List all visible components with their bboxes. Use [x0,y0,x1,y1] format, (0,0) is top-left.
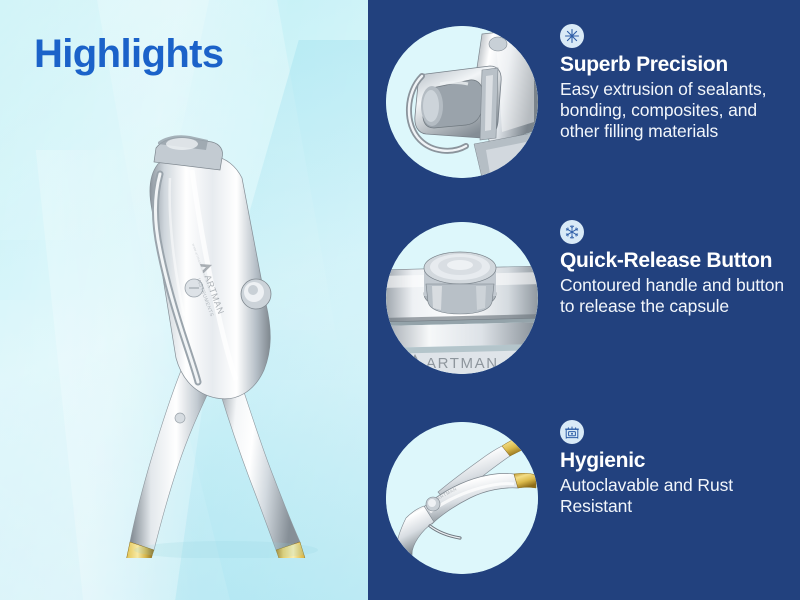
left-hero-panel: Highlights [0,0,368,600]
snowflake-icon [560,220,584,244]
feature-thumbnail-wrap: ARTMAN [378,218,538,378]
autoclave-icon [560,420,584,444]
svg-text:ARTMAN: ARTMAN [426,355,499,372]
feature-item-hygienic: ARTMAN [378,418,800,578]
thumbnail-hinge-closeup [386,26,538,178]
feature-text-block: Hygienic Autoclavable and Rust Resistant [538,418,800,517]
product-image-applicator-gun: ARTMAN INSTRUMENTS www.artmaninstruments… [96,118,356,558]
feature-description: Easy extrusion of sealants, bonding, com… [560,79,800,143]
page-title: Highlights [34,34,224,74]
feature-item-superb-precision: Superb Precision Easy extrusion of seala… [378,22,800,182]
feature-title: Hygienic [560,450,800,473]
right-features-panel: Superb Precision Easy extrusion of seala… [368,0,800,600]
feature-item-quick-release-button: ARTMAN [378,218,800,378]
thumbnail-release-button-closeup: ARTMAN [386,222,538,374]
feature-description: Contoured handle and button to release t… [560,275,800,318]
feature-text-block: Quick-Release Button Contoured handle an… [538,218,800,317]
feature-text-block: Superb Precision Easy extrusion of seala… [538,22,800,143]
feature-description: Autoclavable and Rust Resistant [560,475,800,518]
feature-title: Superb Precision [560,54,800,77]
thumbnail-full-instrument: ARTMAN [386,422,538,574]
feature-title: Quick-Release Button [560,250,800,273]
feature-thumbnail-wrap [378,22,538,182]
starburst-icon [560,24,584,48]
infographic-canvas: Highlights [0,0,800,600]
feature-thumbnail-wrap: ARTMAN [378,418,538,578]
